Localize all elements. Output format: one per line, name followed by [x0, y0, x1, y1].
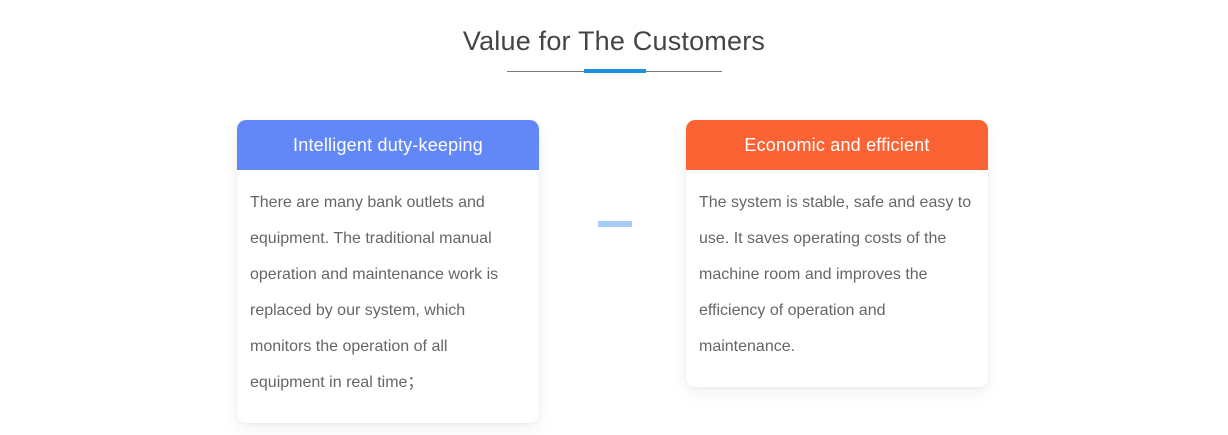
title-underline-accent	[584, 69, 646, 73]
page-title: Value for The Customers	[0, 24, 1228, 58]
card-connector-bar	[598, 221, 632, 227]
card-body-intelligent-duty-keeping: There are many bank outlets and equipmen…	[237, 170, 539, 423]
title-underline	[507, 69, 722, 74]
card-economic-and-efficient[interactable]: Economic and efficient The system is sta…	[686, 120, 988, 387]
card-intelligent-duty-keeping[interactable]: Intelligent duty-keeping There are many …	[237, 120, 539, 423]
section-header: Value for The Customers	[0, 24, 1228, 74]
card-header-intelligent-duty-keeping: Intelligent duty-keeping	[237, 120, 539, 170]
value-for-customers-section: Value for The Customers Intelligent duty…	[0, 0, 1228, 435]
card-header-economic-and-efficient: Economic and efficient	[686, 120, 988, 170]
card-body-economic-and-efficient: The system is stable, safe and easy to u…	[686, 170, 988, 387]
